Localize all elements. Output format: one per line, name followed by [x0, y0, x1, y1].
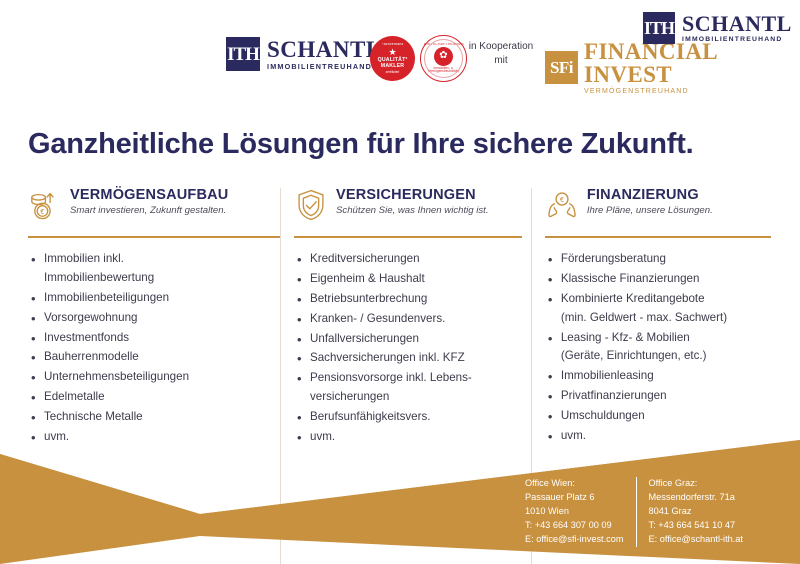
list-item-text: Kranken- / Gesundenvers.: [310, 312, 445, 325]
shield-check-icon: [294, 188, 328, 222]
list-item-text: Förderungsberatung: [561, 252, 666, 265]
sfi-mark-icon: SFi: [545, 51, 578, 84]
schantl-wordmark-left: SCHANTL IMMOBILIENTREUHAND: [267, 38, 382, 70]
qualitaetsmakler-seal-icon: Fachverband ★ QUALITÄT² MAKLER zertifizi…: [370, 36, 415, 81]
list-item-text: Bauherrenmodelle: [44, 350, 139, 363]
contact-city: 8041 Graz: [649, 505, 743, 519]
wko-seal-icon: WIRTSCHAFTSKAMMER ✿ Immobilien- u. Vermö…: [420, 35, 467, 82]
list-item-text: Sachversicherungen inkl. KFZ: [310, 351, 465, 364]
list-item-text: Edelmetalle: [44, 390, 105, 403]
certification-seals: Fachverband ★ QUALITÄT² MAKLER zertifizi…: [370, 35, 467, 82]
list-item: Kranken- / Gesundenvers.: [294, 310, 531, 329]
schantl-name-left: SCHANTL: [267, 38, 382, 61]
sfi-name: FINANCIAL INVEST: [584, 40, 800, 86]
list-item-text: Privatfinanzierungen: [561, 389, 667, 402]
seal-ring: [424, 39, 463, 78]
column-title: VERSICHERUNGEN: [336, 187, 489, 203]
list-item: Kombinierte Kreditangebote(min. Geldwert…: [545, 290, 772, 328]
contact-title: Office Wien:: [525, 477, 624, 491]
list-item-text: Immobilien inkl.: [44, 252, 124, 265]
column-title-block: VERSICHERUNGEN Schützen Sie, was Ihnen w…: [336, 186, 489, 217]
ith-mark-icon: ITH: [226, 37, 260, 71]
column-title: FINANZIERUNG: [587, 187, 713, 203]
list-item-text: Unfallversicherungen: [310, 332, 419, 345]
column-rule: [28, 236, 280, 238]
column-header: € FINANZIERUNG Ihre Pläne, unsere Lösung…: [545, 186, 772, 232]
schantl-sub-right: IMMOBILIENTREUHAND: [682, 37, 792, 44]
schantl-sub-left: IMMOBILIENTREUHAND: [267, 63, 382, 70]
list-item: Bauherrenmodelle: [28, 348, 280, 367]
contact-office-graz: Office Graz: Messendorferstr. 71a 8041 G…: [636, 477, 743, 547]
contact-title: Office Graz:: [649, 477, 743, 491]
contact-phone[interactable]: T: +43 664 541 10 47: [649, 519, 743, 533]
column-versicherungen: VERSICHERUNGEN Schützen Sie, was Ihnen w…: [280, 186, 531, 448]
list-item: Investmentfonds: [28, 329, 280, 348]
list-item-text: Betriebsunterbrechung: [310, 292, 427, 305]
list-item-text: Pensionsvorsorge inkl. Lebens-: [310, 371, 472, 384]
column-vermoegensaufbau: € VERMÖGENSAUFBAU Smart investieren, Zuk…: [28, 186, 280, 448]
list-item: Technische Metalle: [28, 408, 280, 427]
list-item-text: Leasing - Kfz- & Mobilien: [561, 331, 690, 344]
footer-contacts: Office Wien: Passauer Platz 6 1010 Wien …: [525, 477, 743, 547]
list-item-cont: (Geräte, Einrichtungen, etc.): [561, 347, 772, 366]
coins-growth-euro-icon: €: [28, 188, 62, 222]
list-item: Leasing - Kfz- & Mobilien(Geräte, Einric…: [545, 329, 772, 367]
column-header: VERSICHERUNGEN Schützen Sie, was Ihnen w…: [294, 186, 531, 232]
poster-page: ITH SCHANTL IMMOBILIENTREUHAND Fachverba…: [0, 0, 800, 564]
list-item-text: Immobilienbeteiligungen: [44, 291, 169, 304]
sfi-monogram: SFi: [550, 59, 573, 76]
list-item-text: Eigenheim & Haushalt: [310, 272, 425, 285]
list-item: Immobilienleasing: [545, 367, 772, 386]
schantl-name-right: SCHANTL: [682, 13, 792, 35]
list-item: Pensionsvorsorge inkl. Lebens-versicheru…: [294, 369, 531, 407]
list-item-cont: Immobilienbewertung: [44, 269, 280, 288]
list-item: Immobilienbeteiligungen: [28, 289, 280, 308]
list-item: Betriebsunterbrechung: [294, 290, 531, 309]
ith-monogram: ITH: [227, 45, 259, 64]
list-item: Immobilien inkl.Immobilienbewertung: [28, 250, 280, 288]
column-header: € VERMÖGENSAUFBAU Smart investieren, Zuk…: [28, 186, 280, 232]
column-tagline: Schützen Sie, was Ihnen wichtig ist.: [336, 206, 489, 217]
svg-text:€: €: [560, 196, 564, 204]
ith-monogram-right: ITH: [644, 19, 674, 37]
service-columns: € VERMÖGENSAUFBAU Smart investieren, Zuk…: [28, 186, 772, 448]
header: ITH SCHANTL IMMOBILIENTREUHAND Fachverba…: [0, 0, 800, 100]
column-tagline: Smart investieren, Zukunft gestalten.: [70, 206, 228, 217]
seal-emblem-icon: ★: [388, 48, 396, 57]
list-item-text: Immobilienleasing: [561, 369, 654, 382]
contact-email[interactable]: E: office@schantl-ith.at: [649, 533, 743, 547]
contact-street: Passauer Platz 6: [525, 491, 624, 505]
sfi-sub: VERMÖGENSTREUHAND: [584, 88, 800, 95]
schantl-logo-left: ITH SCHANTL IMMOBILIENTREUHAND: [226, 37, 382, 71]
list-item-text: Unternehmensbeteiligungen: [44, 370, 189, 383]
schantl-wordmark-right: SCHANTL IMMOBILIENTREUHAND: [682, 13, 792, 44]
contact-email[interactable]: E: office@sfi-invest.com: [525, 533, 624, 547]
contact-street: Messendorferstr. 71a: [649, 491, 743, 505]
column-tagline: Ihre Pläne, unsere Lösungen.: [587, 206, 713, 217]
seal-bottom-text: zertifiziert: [386, 71, 400, 75]
column-title: VERMÖGENSAUFBAU: [70, 187, 228, 203]
cooperation-label: in Kooperation mit: [462, 40, 540, 68]
contact-office-wien: Office Wien: Passauer Platz 6 1010 Wien …: [525, 477, 636, 547]
seal-main-text: QUALITÄT² MAKLER: [370, 58, 415, 70]
list-item-text: Kreditversicherungen: [310, 252, 420, 265]
list-item: Unternehmensbeteiligungen: [28, 368, 280, 387]
column-rule: [294, 236, 522, 238]
list-item: Förderungsberatung: [545, 250, 772, 269]
service-list-finanzierung: Förderungsberatung Klassische Finanzieru…: [545, 250, 772, 446]
contact-city: 1010 Wien: [525, 505, 624, 519]
list-item-cont: versicherungen: [310, 388, 531, 407]
contact-phone[interactable]: T: +43 664 307 00 09: [525, 519, 624, 533]
hands-holding-euro-icon: €: [545, 188, 579, 222]
list-item-text: Klassische Finanzierungen: [561, 272, 700, 285]
list-item-text: Berufsunfähigkeitsvers.: [310, 410, 431, 423]
list-item-cont: (min. Geldwert - max. Sachwert): [561, 309, 772, 328]
service-list-vermoegensaufbau: Immobilien inkl.Immobilienbewertung Immo…: [28, 250, 280, 447]
list-item: Klassische Finanzierungen: [545, 270, 772, 289]
sfi-logo: SFi FINANCIAL INVEST VERMÖGENSTREUHAND: [545, 40, 800, 95]
list-item: Edelmetalle: [28, 388, 280, 407]
list-item: Umschuldungen: [545, 407, 772, 426]
column-title-block: VERMÖGENSAUFBAU Smart investieren, Zukun…: [70, 186, 228, 217]
ith-mark-icon-right: ITH: [643, 12, 675, 44]
list-item-text: Vorsorgewohnung: [44, 311, 137, 324]
list-item-text: Kombinierte Kreditangebote: [561, 292, 705, 305]
column-title-block: FINANZIERUNG Ihre Pläne, unsere Lösungen…: [587, 186, 713, 217]
column-rule: [545, 236, 771, 238]
schantl-logo-right: ITH SCHANTL IMMOBILIENTREUHAND: [643, 12, 792, 44]
list-item: Unfallversicherungen: [294, 330, 531, 349]
service-list-versicherungen: Kreditversicherungen Eigenheim & Haushal…: [294, 250, 531, 447]
list-item: Kreditversicherungen: [294, 250, 531, 269]
svg-text:€: €: [40, 208, 44, 216]
list-item: Vorsorgewohnung: [28, 309, 280, 328]
page-headline: Ganzheitliche Lösungen für Ihre sichere …: [28, 128, 694, 161]
list-item: Privatfinanzierungen: [545, 387, 772, 406]
column-finanzierung: € FINANZIERUNG Ihre Pläne, unsere Lösung…: [531, 186, 772, 448]
list-item: Eigenheim & Haushalt: [294, 270, 531, 289]
list-item-text: Investmentfonds: [44, 331, 129, 344]
list-item: Sachversicherungen inkl. KFZ: [294, 349, 531, 368]
list-item-text: Umschuldungen: [561, 409, 645, 422]
list-item: Berufsunfähigkeitsvers.: [294, 408, 531, 427]
sfi-wordmark: FINANCIAL INVEST VERMÖGENSTREUHAND: [584, 40, 800, 95]
list-item-text: Technische Metalle: [44, 410, 143, 423]
